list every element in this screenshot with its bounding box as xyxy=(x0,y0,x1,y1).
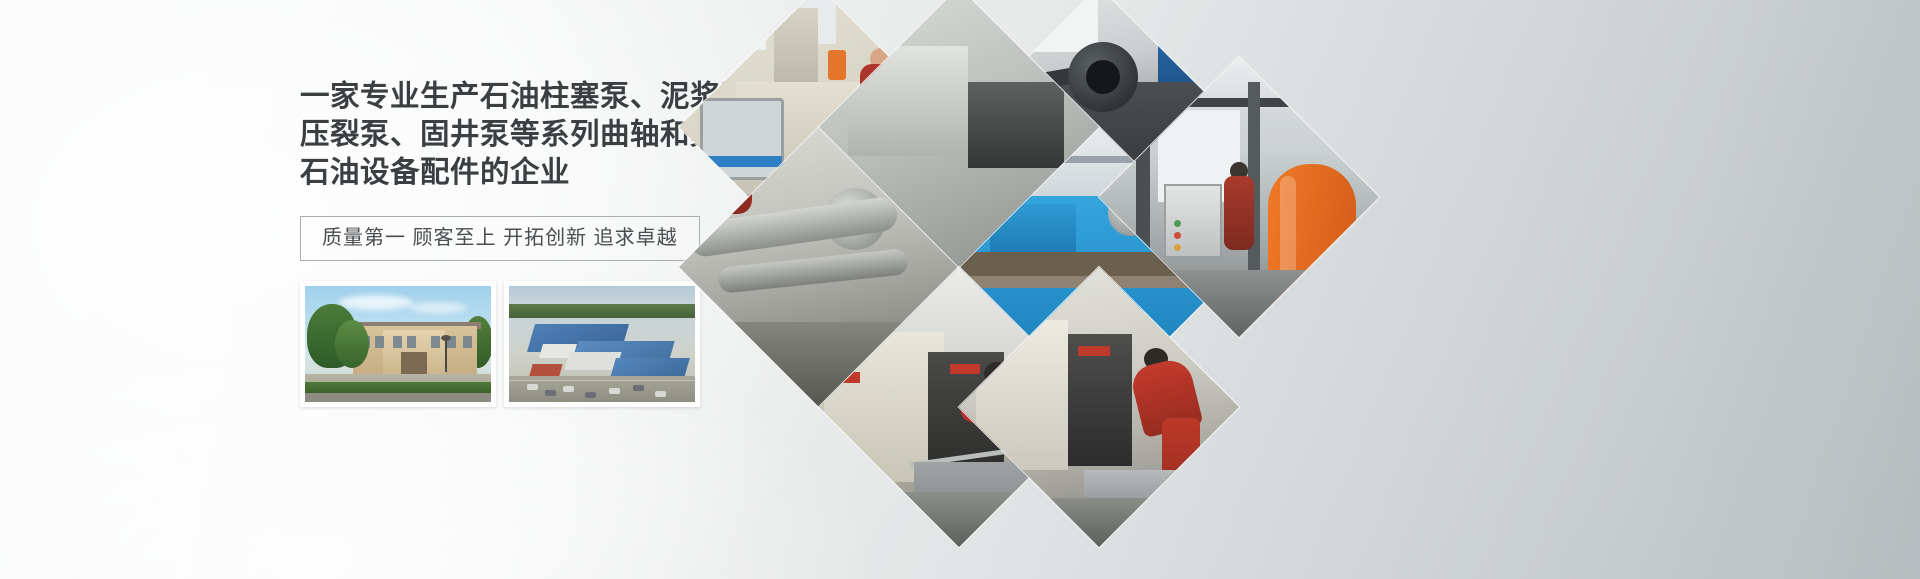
hero-copy-block: 一家专业生产石油柱塞泵、泥浆泵、 压裂泵、固井泵等系列曲轴和其他 石油设备配件的… xyxy=(300,78,720,407)
office-building-image xyxy=(305,286,491,402)
headline-line-3: 石油设备配件的企业 xyxy=(300,154,720,192)
office-building-photo[interactable] xyxy=(300,281,496,407)
factory-aerial-photo[interactable] xyxy=(504,281,700,407)
tagline-text: 质量第一 顾客至上 开拓创新 追求卓越 xyxy=(322,226,678,250)
hero-banner: 一家专业生产石油柱塞泵、泥浆泵、 压裂泵、固井泵等系列曲轴和其他 石油设备配件的… xyxy=(0,0,1920,579)
headline-line-1: 一家专业生产石油柱塞泵、泥浆泵、 xyxy=(300,78,720,116)
photo-strip xyxy=(300,281,720,407)
headline-line-2: 压裂泵、固井泵等系列曲轴和其他 xyxy=(300,116,720,154)
diamond-photo-collage xyxy=(698,28,1298,418)
factory-aerial-image xyxy=(509,286,695,402)
tagline-box: 质量第一 顾客至上 开拓创新 追求卓越 xyxy=(300,216,700,261)
